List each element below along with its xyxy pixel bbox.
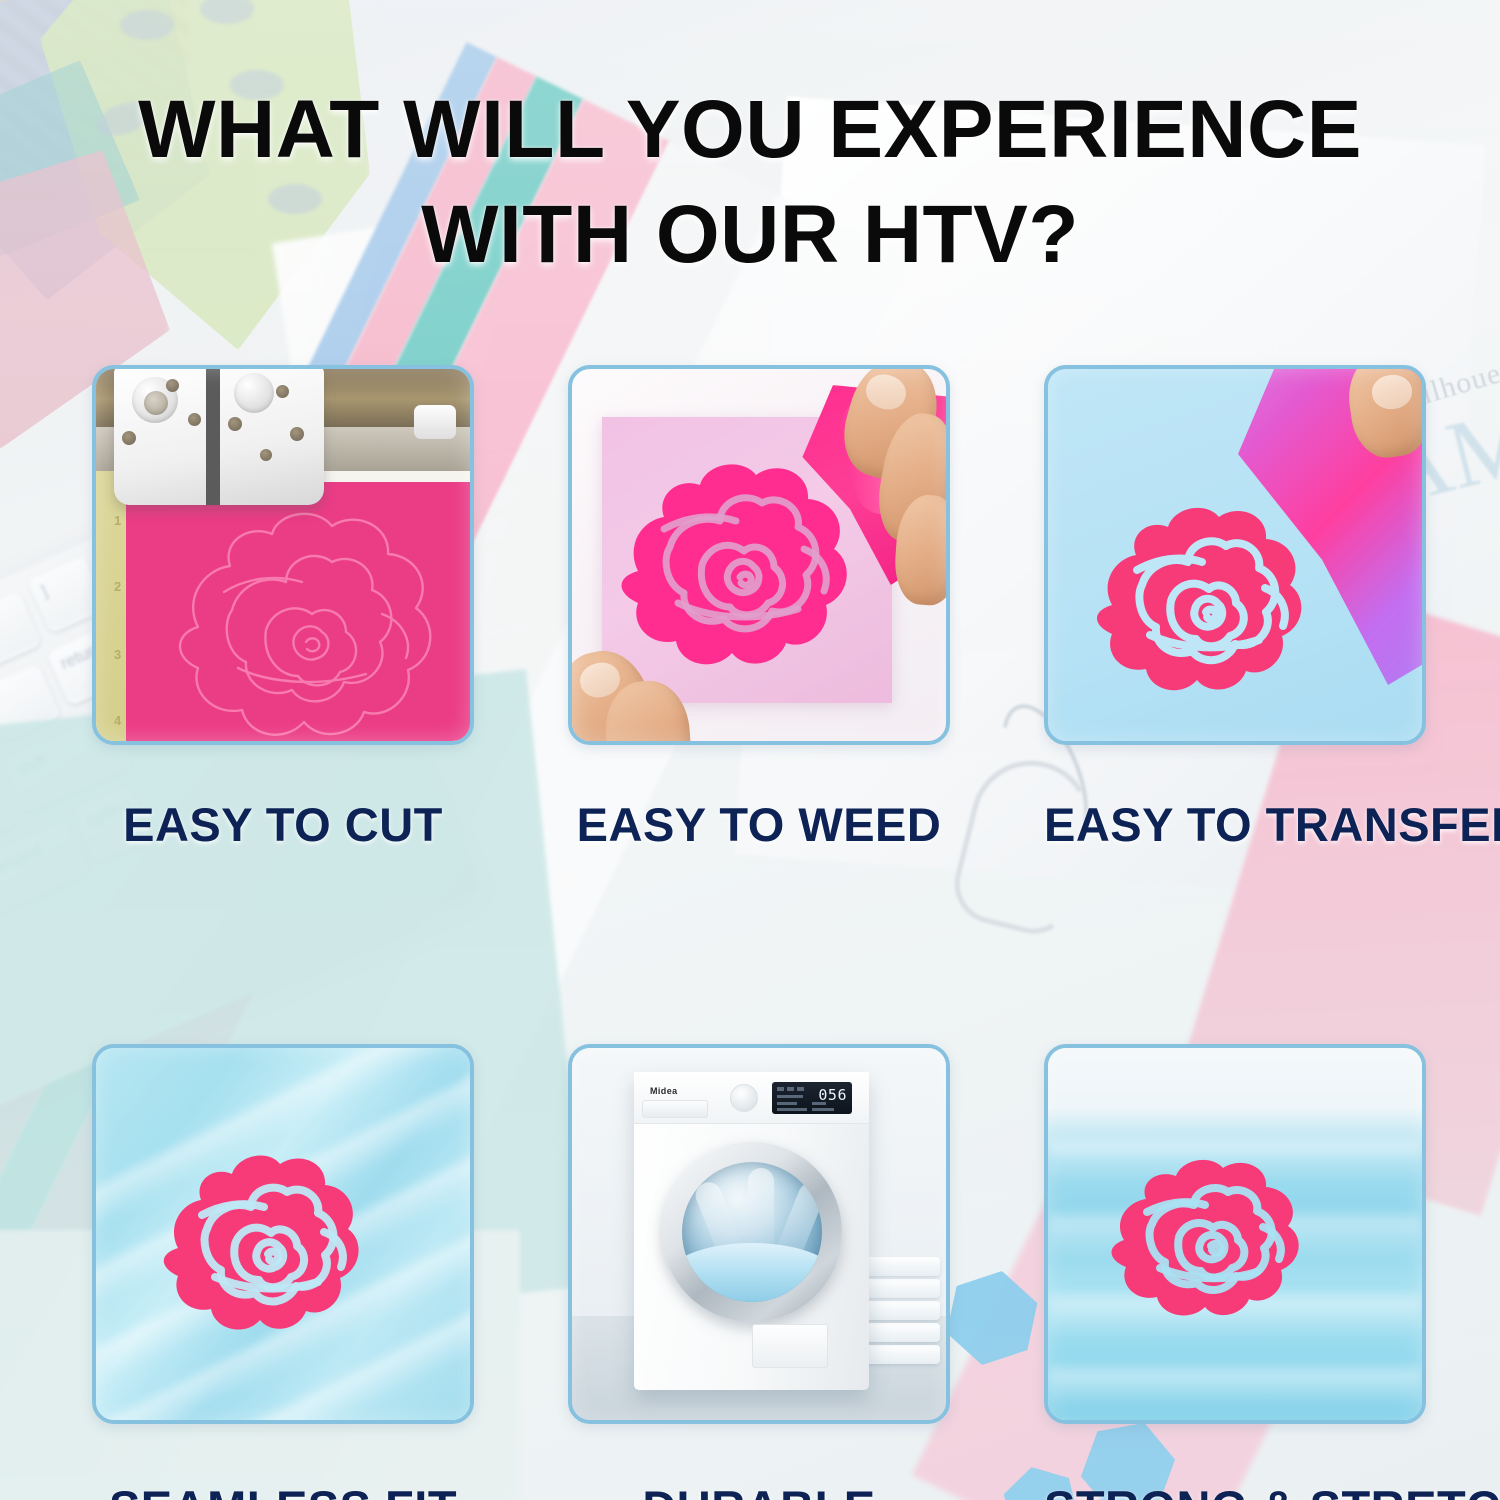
brand-label: Midea (650, 1086, 678, 1096)
headline-line-2: WITH OUR HTV? (70, 183, 1430, 288)
feature-grid: 12 34 (92, 365, 1426, 1500)
feature-caption-easy-to-transfer: EASY TO TRANSFER (1044, 797, 1426, 852)
feature-image-durable[interactable]: Midea 056 (568, 1044, 950, 1424)
detergent-drawer (642, 1100, 708, 1118)
feature-cell-easy-to-weed: EASY TO WEED (568, 365, 950, 852)
door-glass (682, 1162, 822, 1302)
feature-image-strong-stretchy[interactable] (1044, 1044, 1426, 1424)
machine-door[interactable] (662, 1142, 842, 1322)
rose-design-icon (152, 1130, 400, 1342)
feature-cell-easy-to-transfer: EASY TO TRANSFER (1044, 365, 1426, 852)
control-panel: Midea 056 (634, 1072, 869, 1124)
feature-image-easy-to-transfer[interactable] (1044, 365, 1426, 745)
feature-image-easy-to-cut[interactable]: 12 34 (92, 365, 474, 745)
machine-roller (414, 405, 456, 439)
feature-row-1: 12 34 (92, 365, 1426, 852)
rose-design-icon (1096, 1142, 1362, 1320)
feature-caption-durable: DURABLE (568, 1480, 950, 1500)
feature-cell-easy-to-cut: 12 34 (92, 365, 474, 852)
feature-caption-strong-stretchy: STRONG & STRETCHY (1044, 1480, 1426, 1500)
program-dial[interactable] (730, 1084, 758, 1112)
feature-row-2: SEAMLESS FIT Midea (92, 1044, 1426, 1500)
rose-cut-outline-icon (126, 482, 474, 745)
feature-caption-seamless-fit: SEAMLESS FIT (92, 1480, 474, 1500)
feature-caption-easy-to-cut: EASY TO CUT (92, 797, 474, 852)
cutter-head (114, 365, 324, 505)
page-title: WHAT WILL YOU EXPERIENCE WITH OUR HTV? (0, 78, 1500, 288)
feature-cell-strong-stretchy: STRONG & STRETCHY (1044, 1044, 1426, 1500)
washing-machine: Midea 056 (634, 1072, 869, 1390)
feature-image-easy-to-weed[interactable] (568, 365, 950, 745)
feature-cell-durable: Midea 056 (568, 1044, 950, 1500)
filter-hatch (752, 1324, 828, 1368)
feature-image-seamless-fit[interactable] (92, 1044, 474, 1424)
feature-caption-easy-to-weed: EASY TO WEED (568, 797, 950, 852)
drum-water (682, 1243, 822, 1302)
display-panel: 056 (772, 1082, 852, 1114)
headline-line-1: WHAT WILL YOU EXPERIENCE (70, 78, 1430, 183)
feature-cell-seamless-fit: SEAMLESS FIT (92, 1044, 474, 1500)
